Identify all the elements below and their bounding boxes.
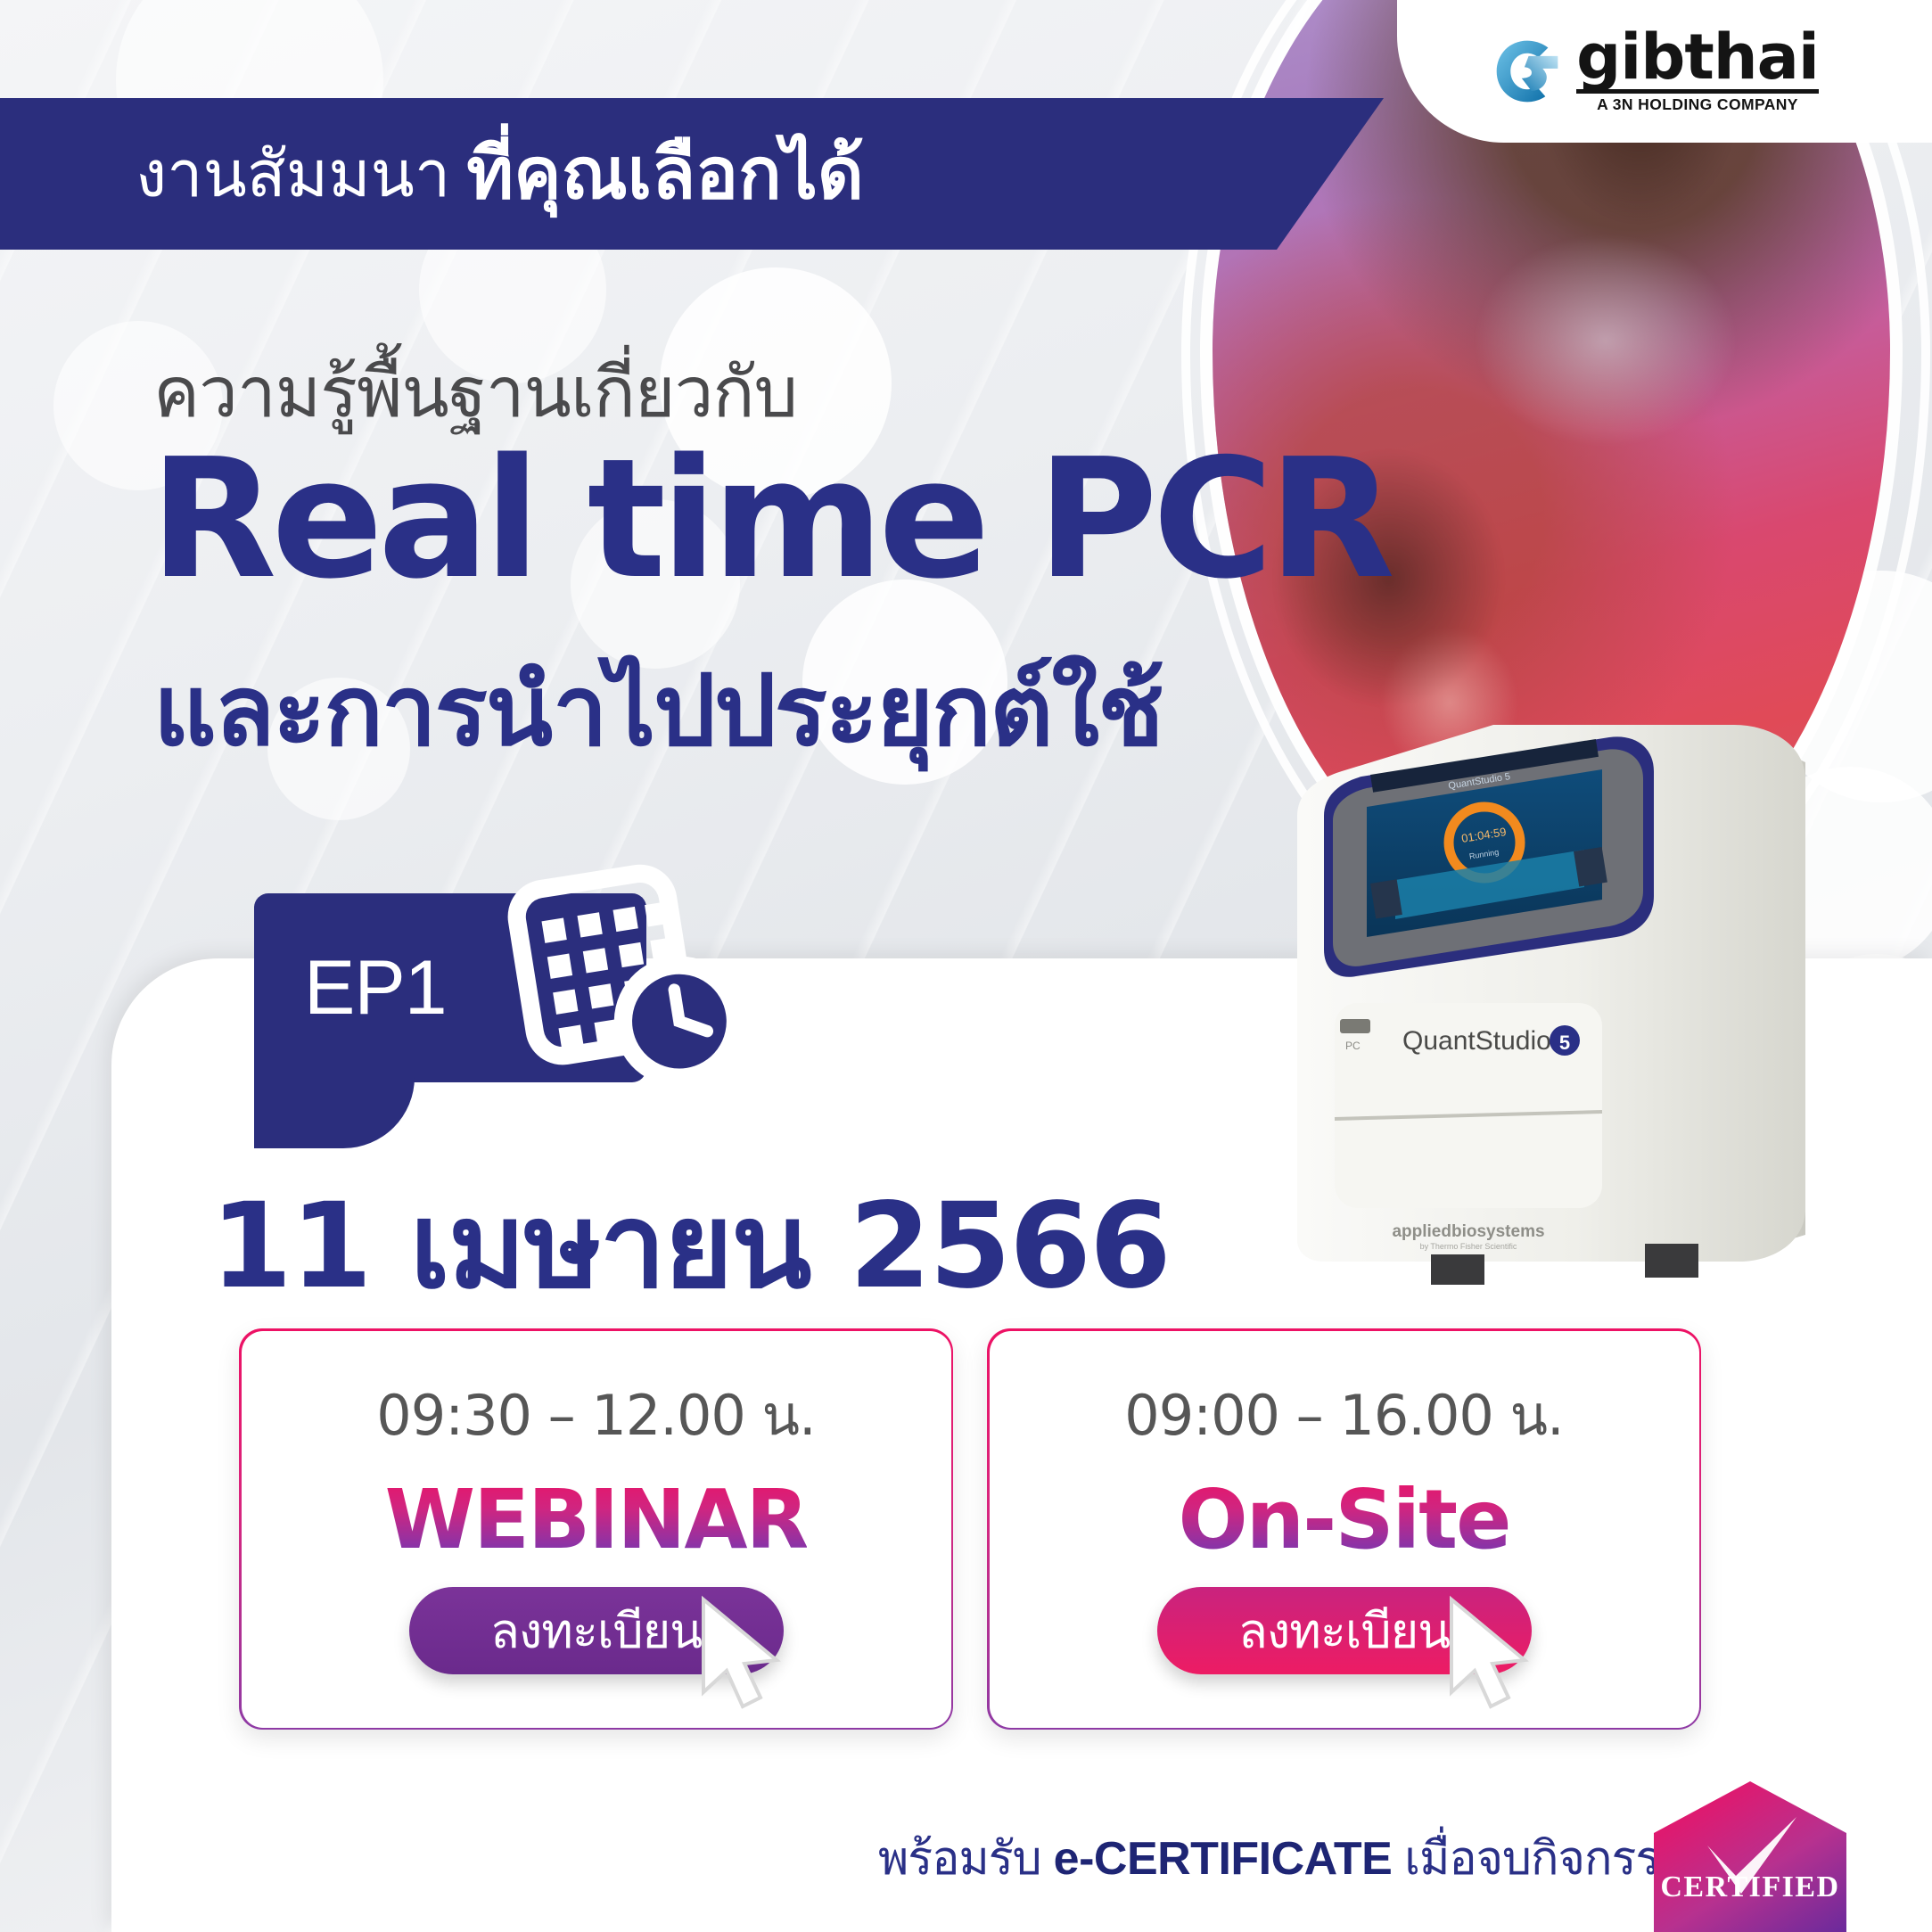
session-cards: 09:30 – 12.00 น. WEBINAR ลงทะเบียน 09:00… xyxy=(239,1328,1701,1730)
banner-text-light: งานสัมมนา xyxy=(136,142,450,206)
register-button-label: ลงทะเบียน xyxy=(1238,1592,1450,1669)
certificate-note-prefix: พร้อมรับ xyxy=(878,1821,1041,1895)
mouse-pointer-icon xyxy=(689,1592,796,1717)
banner-tail-shape xyxy=(1277,98,1384,250)
certified-badge-label: CERTIFIED xyxy=(1654,1870,1846,1904)
episode-label: EP1 xyxy=(304,944,447,1032)
register-button-label: ลงทะเบียน xyxy=(490,1592,702,1669)
session-card-webinar[interactable]: 09:30 – 12.00 น. WEBINAR ลงทะเบียน xyxy=(239,1328,953,1730)
promo-poster: gibthai A 3N HOLDING COMPANY งานสัมมนา ท… xyxy=(0,0,1932,1932)
session-time: 09:00 – 16.00 น. xyxy=(1124,1372,1563,1459)
mouse-pointer-icon xyxy=(1437,1592,1544,1717)
certificate-note-highlight: e-CERTIFICATE xyxy=(1054,1832,1393,1886)
logo-wordmark: gibthai xyxy=(1576,29,1819,86)
register-button-webinar[interactable]: ลงทะเบียน xyxy=(409,1587,784,1674)
register-button-onsite[interactable]: ลงทะเบียน xyxy=(1157,1587,1532,1674)
logo-divider xyxy=(1576,89,1819,94)
pc-port-label: PC xyxy=(1345,1040,1361,1052)
session-mode: WEBINAR xyxy=(385,1472,808,1567)
certificate-note-suffix: เมื่อจบกิจกรรม xyxy=(1404,1821,1689,1895)
headline-subtitle: และการนำไปประยุกต์ใช้ xyxy=(153,662,1163,760)
session-card-onsite[interactable]: 09:00 – 16.00 น. On-Site ลงทะเบียน xyxy=(987,1328,1701,1730)
gibthai-swirl-logo-icon xyxy=(1492,37,1562,106)
checkmark-shield-icon xyxy=(1654,1781,1846,1932)
brand-logo: gibthai A 3N HOLDING COMPANY xyxy=(1397,0,1932,143)
quantstudio-pcr-instrument: QuantStudio 5 01:04:59 Running PC QuantS… xyxy=(1270,709,1886,1297)
session-time: 09:30 – 12.00 น. xyxy=(376,1372,815,1459)
session-mode: On-Site xyxy=(1178,1472,1509,1567)
event-date: 11 เมษายน 2566 xyxy=(210,1152,1170,1339)
page-title: Real time PCR xyxy=(150,437,1390,602)
instrument-model-label: QuantStudio xyxy=(1402,1026,1551,1056)
calendar-clock-icon xyxy=(499,858,740,1098)
instrument-brand-line1: appliedbiosystems xyxy=(1392,1222,1544,1241)
instrument-model-number: 5 xyxy=(1559,1032,1570,1054)
logo-tagline: A 3N HOLDING COMPANY xyxy=(1576,95,1819,114)
banner-text-bold: ที่คุณเลือกได้ xyxy=(466,138,864,210)
instrument-brand-line2: by Thermo Fisher Scientific xyxy=(1420,1242,1517,1251)
certificate-note: พร้อมรับ e-CERTIFICATE เมื่อจบกิจกรรม xyxy=(878,1821,1689,1895)
seminar-banner: งานสัมมนา ที่คุณเลือกได้ xyxy=(0,98,1277,250)
